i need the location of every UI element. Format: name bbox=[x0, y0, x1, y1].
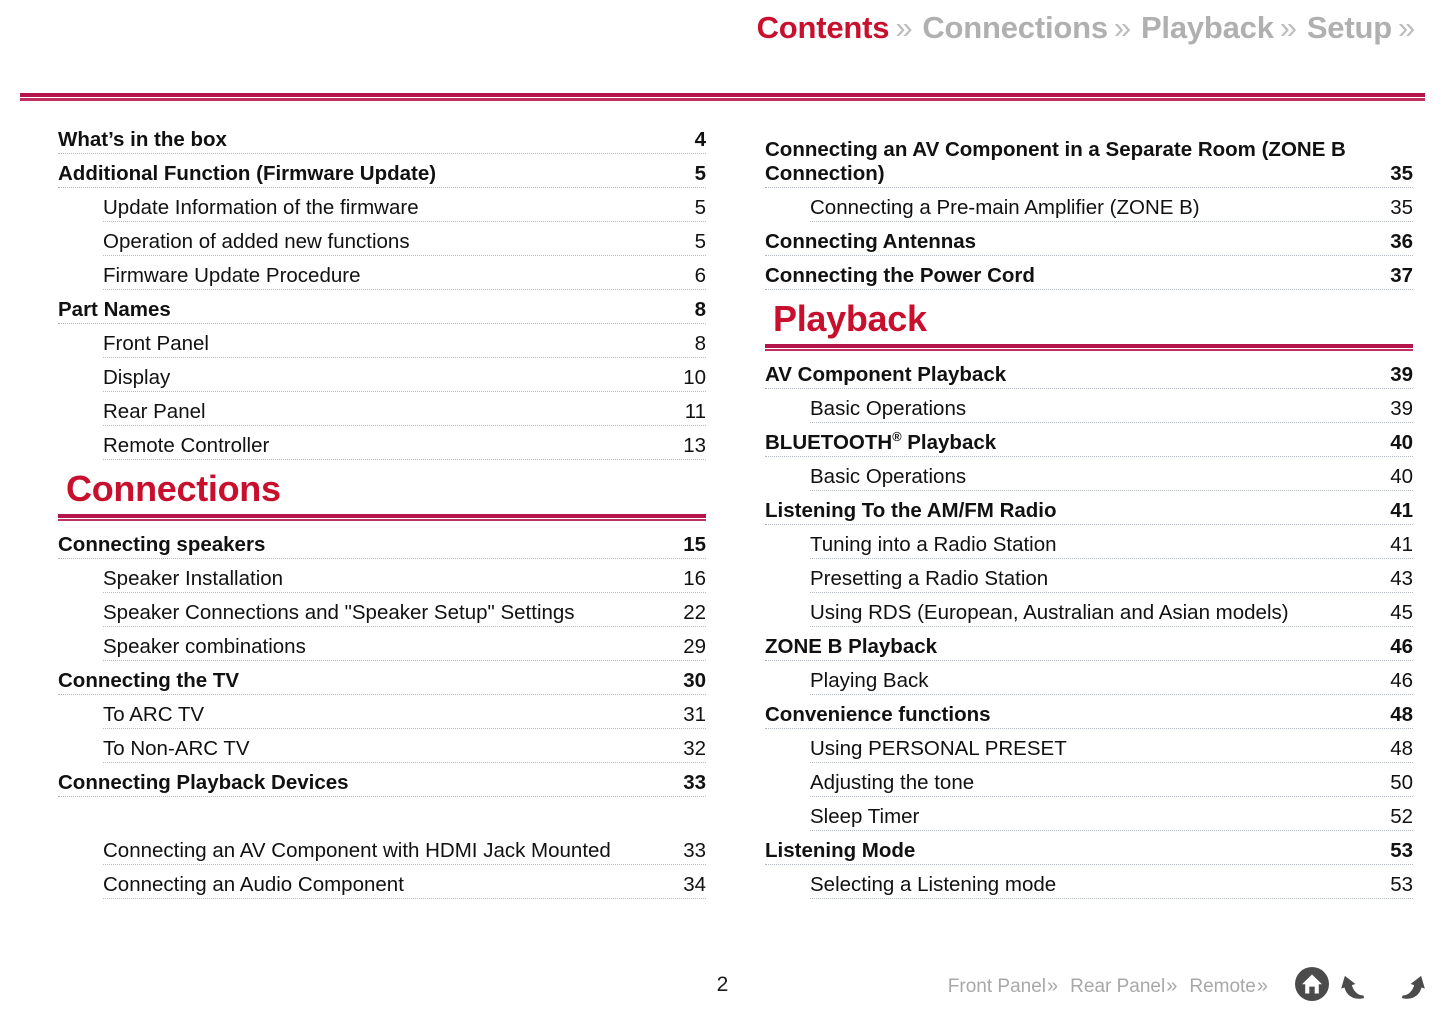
toc-entry-title: Connecting the TV bbox=[58, 669, 239, 693]
toc-entry[interactable]: What’s in the box4 bbox=[58, 120, 706, 154]
chevron-right-icon: » bbox=[1280, 10, 1297, 46]
toc-page-number: 40 bbox=[1390, 431, 1413, 455]
toc-entry[interactable]: Connecting an AV Component in a Separate… bbox=[765, 120, 1413, 188]
toc-entry-title: Front Panel bbox=[103, 332, 209, 356]
toc-page-number: 5 bbox=[695, 162, 706, 186]
toc-entry[interactable]: Listening To the AM/FM Radio41 bbox=[765, 491, 1413, 525]
toc-entry[interactable]: Connecting the Power Cord37 bbox=[765, 256, 1413, 290]
toc-entry[interactable]: BLUETOOTH® Playback40 bbox=[765, 423, 1413, 457]
toc-entry[interactable]: Connecting the TV30 bbox=[58, 661, 706, 695]
rule-thin-line bbox=[765, 349, 1413, 351]
toc-entry[interactable]: Sleep Timer52 bbox=[810, 797, 1413, 831]
toc-entry-title: Part Names bbox=[58, 298, 171, 322]
toc-entry[interactable]: Connecting an Audio Component34 bbox=[103, 865, 706, 899]
header-divider-rule bbox=[20, 93, 1425, 101]
rule-thin-line bbox=[58, 519, 706, 521]
toc-page-number: 41 bbox=[1390, 499, 1413, 523]
footer-link-front-panel[interactable]: Front Panel bbox=[948, 976, 1046, 998]
toc-page-number: 30 bbox=[683, 669, 706, 693]
nav-item-contents[interactable]: Contents bbox=[757, 10, 890, 46]
section-rule bbox=[765, 344, 1413, 351]
toc-entry-title: To Non-ARC TV bbox=[103, 737, 250, 761]
toc-entry-title: What’s in the box bbox=[58, 128, 227, 152]
toc-page-number: 36 bbox=[1390, 230, 1413, 254]
toc-page-number: 4 bbox=[695, 128, 706, 152]
toc-entry[interactable]: Remote Controller13 bbox=[103, 426, 706, 460]
toc-entry-title: Using PERSONAL PRESET bbox=[810, 737, 1067, 761]
toc-page-number: 29 bbox=[683, 635, 706, 659]
toc-page-number: 34 bbox=[683, 873, 706, 897]
chevron-right-icon: » bbox=[1114, 10, 1131, 46]
toc-page-number: 40 bbox=[1390, 465, 1413, 489]
toc-page-number: 46 bbox=[1390, 635, 1413, 659]
toc-page-number: 45 bbox=[1390, 601, 1413, 625]
toc-page-number: 33 bbox=[683, 839, 706, 863]
toc-entry[interactable]: Connecting Playback Devices33 bbox=[58, 763, 706, 797]
toc-entry[interactable]: Firmware Update Procedure6 bbox=[103, 256, 706, 290]
toc-page-number: 35 bbox=[1390, 196, 1413, 220]
toc-entry-title-base: BLUETOOTH bbox=[765, 431, 892, 454]
toc-page-number: 13 bbox=[683, 434, 706, 458]
registered-trademark-icon: ® bbox=[892, 429, 901, 444]
toc-entry[interactable]: AV Component Playback39 bbox=[765, 355, 1413, 389]
toc-entry[interactable]: Playing Back46 bbox=[810, 661, 1413, 695]
toc-entry-title: Basic Operations bbox=[810, 465, 966, 489]
toc-entry-title: Listening To the AM/FM Radio bbox=[765, 499, 1057, 523]
back-arrow-icon[interactable] bbox=[1339, 965, 1379, 1008]
toc-page-number: 52 bbox=[1390, 805, 1413, 829]
toc-entry-title: Rear Panel bbox=[103, 400, 206, 424]
toc-page-number: 31 bbox=[683, 703, 706, 727]
toc-entry-title: Update Information of the firmware bbox=[103, 196, 419, 220]
toc-page-number: 11 bbox=[685, 400, 706, 424]
forward-arrow-icon[interactable] bbox=[1387, 965, 1427, 1008]
toc-entry-title: Speaker Connections and "Speaker Setup" … bbox=[103, 601, 575, 625]
toc-page-number: 16 bbox=[683, 567, 706, 591]
toc-page-number: 50 bbox=[1390, 771, 1413, 795]
toc-entry-title: To ARC TV bbox=[103, 703, 204, 727]
toc-entry-title-suffix: Playback bbox=[902, 431, 997, 454]
toc-entry[interactable]: Tuning into a Radio Station41 bbox=[810, 525, 1413, 559]
toc-page-number: 53 bbox=[1390, 839, 1413, 863]
toc-entry[interactable]: Additional Function (Firmware Update)5 bbox=[58, 154, 706, 188]
nav-item-connections[interactable]: Connections bbox=[922, 10, 1108, 46]
toc-entry[interactable]: Speaker combinations29 bbox=[103, 627, 706, 661]
nav-item-setup[interactable]: Setup bbox=[1307, 10, 1392, 46]
toc-entry-title: Playing Back bbox=[810, 669, 929, 693]
top-navigation: Contents»Connections»Playback»Setup» bbox=[757, 10, 1425, 46]
toc-entry[interactable]: Update Information of the firmware5 bbox=[103, 188, 706, 222]
section-rule bbox=[58, 514, 706, 521]
toc-entry-title: Connecting an AV Component in a Separate… bbox=[765, 138, 1378, 186]
toc-page-number: 48 bbox=[1390, 737, 1413, 761]
toc-entry-title: Presetting a Radio Station bbox=[810, 567, 1048, 591]
toc-entry[interactable]: Display10 bbox=[103, 358, 706, 392]
toc-entry-title: Adjusting the tone bbox=[810, 771, 974, 795]
toc-entry-title: Sleep Timer bbox=[810, 805, 919, 829]
chevron-right-icon: » bbox=[895, 10, 912, 46]
toc-entry-title: BLUETOOTH® Playback bbox=[765, 431, 996, 455]
toc-entry[interactable]: Connecting Antennas36 bbox=[765, 222, 1413, 256]
toc-page-number: 33 bbox=[683, 771, 706, 795]
toc-entry[interactable]: Part Names8 bbox=[58, 290, 706, 324]
toc-entry-title: Selecting a Listening mode bbox=[810, 873, 1056, 897]
toc-page-number: 43 bbox=[1390, 567, 1413, 591]
toc-page-number: 37 bbox=[1390, 264, 1413, 288]
footer-navigation: Front Panel»Rear Panel»Remote» bbox=[948, 975, 1280, 998]
chevron-right-icon: » bbox=[1257, 975, 1268, 998]
toc-entry[interactable]: Operation of added new functions5 bbox=[103, 222, 706, 256]
toc-entry[interactable]: Speaker Connections and "Speaker Setup" … bbox=[103, 593, 706, 627]
footer-link-remote[interactable]: Remote bbox=[1189, 976, 1256, 998]
toc-entry-title: Additional Function (Firmware Update) bbox=[58, 162, 436, 186]
toc-page-number: 5 bbox=[695, 196, 706, 220]
toc-page-number: 10 bbox=[683, 366, 706, 390]
toc-entry-title: Firmware Update Procedure bbox=[103, 264, 361, 288]
toc-entry[interactable]: Basic Operations40 bbox=[810, 457, 1413, 491]
section-banner-playback: Playback bbox=[765, 298, 1413, 351]
toc-page-number: 39 bbox=[1390, 363, 1413, 387]
toc-entry-title: Connecting an Audio Component bbox=[103, 873, 404, 897]
toc-page-number: 39 bbox=[1390, 397, 1413, 421]
toc-page-number: 53 bbox=[1390, 873, 1413, 897]
toc-entry-title: Display bbox=[103, 366, 170, 390]
toc-entry-title: Listening Mode bbox=[765, 839, 915, 863]
toc-entry[interactable]: Connecting speakers15 bbox=[58, 525, 706, 559]
section-banner-connections: Connections bbox=[58, 468, 706, 521]
toc-page-number: 5 bbox=[695, 230, 706, 254]
toc-column-left: What’s in the box4Additional Function (F… bbox=[58, 120, 738, 899]
toc-entry[interactable]: Adjusting the tone50 bbox=[810, 763, 1413, 797]
toc-page-number: 46 bbox=[1390, 669, 1413, 693]
toc-page-number: 32 bbox=[683, 737, 706, 761]
toc-page-number: 15 bbox=[683, 533, 706, 557]
footer-icon-group bbox=[1293, 965, 1427, 1008]
chevron-right-icon: » bbox=[1398, 10, 1415, 46]
toc-entry-title: AV Component Playback bbox=[765, 363, 1006, 387]
toc-entry[interactable]: Speaker Installation16 bbox=[103, 559, 706, 593]
toc-entry-title: Remote Controller bbox=[103, 434, 269, 458]
chevron-right-icon: » bbox=[1166, 975, 1177, 998]
home-icon[interactable] bbox=[1293, 965, 1331, 1008]
toc-entry[interactable]: To ARC TV31 bbox=[103, 695, 706, 729]
toc-entry-title: Connecting an AV Component with HDMI Jac… bbox=[103, 839, 611, 863]
chevron-right-icon: » bbox=[1047, 975, 1058, 998]
toc-page-number: 22 bbox=[683, 601, 706, 625]
page-footer: 2 Front Panel»Rear Panel»Remote» bbox=[0, 963, 1445, 1009]
toc-page-number: 41 bbox=[1390, 533, 1413, 557]
toc-entry-title: Connecting Playback Devices bbox=[58, 771, 349, 795]
toc-entry[interactable]: To Non-ARC TV32 bbox=[103, 729, 706, 763]
toc-entry-title: Operation of added new functions bbox=[103, 230, 410, 254]
toc-entry-title: Connecting the Power Cord bbox=[765, 264, 1035, 288]
toc-column-right: Connecting an AV Component in a Separate… bbox=[765, 120, 1445, 899]
toc-entry[interactable]: Rear Panel11 bbox=[103, 392, 706, 426]
toc-entry[interactable]: Connecting a Pre-main Amplifier (ZONE B)… bbox=[810, 188, 1413, 222]
toc-entry-title: Speaker Installation bbox=[103, 567, 283, 591]
section-title: Connections bbox=[58, 468, 706, 510]
toc-entry[interactable]: Using PERSONAL PRESET48 bbox=[810, 729, 1413, 763]
toc-page-number: 8 bbox=[695, 332, 706, 356]
toc-page-number: 6 bbox=[695, 264, 706, 288]
rule-thin-line bbox=[20, 98, 1425, 101]
toc-entry[interactable]: Selecting a Listening mode53 bbox=[810, 865, 1413, 899]
toc-entry[interactable]: Presetting a Radio Station43 bbox=[810, 559, 1413, 593]
footer-link-rear-panel[interactable]: Rear Panel bbox=[1070, 976, 1165, 998]
nav-item-playback[interactable]: Playback bbox=[1141, 10, 1274, 46]
toc-entry[interactable]: Basic Operations39 bbox=[810, 389, 1413, 423]
toc-entry[interactable]: Listening Mode53 bbox=[765, 831, 1413, 865]
toc-entry[interactable]: Front Panel8 bbox=[103, 324, 706, 358]
toc-entry-title: Basic Operations bbox=[810, 397, 966, 421]
table-of-contents: What’s in the box4Additional Function (F… bbox=[0, 120, 1445, 899]
toc-entry-title: Using RDS (European, Australian and Asia… bbox=[810, 601, 1289, 625]
toc-page-number: 35 bbox=[1390, 162, 1413, 186]
toc-entry[interactable]: Using RDS (European, Australian and Asia… bbox=[810, 593, 1413, 627]
toc-entry-title: Tuning into a Radio Station bbox=[810, 533, 1057, 557]
toc-entry[interactable]: Connecting an AV Component with HDMI Jac… bbox=[103, 797, 706, 865]
toc-page-number: 48 bbox=[1390, 703, 1413, 727]
toc-entry-title: Speaker combinations bbox=[103, 635, 306, 659]
toc-entry[interactable]: ZONE B Playback46 bbox=[765, 627, 1413, 661]
toc-entry-title: Connecting speakers bbox=[58, 533, 265, 557]
toc-entry-title: ZONE B Playback bbox=[765, 635, 937, 659]
section-title: Playback bbox=[765, 298, 1413, 340]
toc-entry-title: Connecting a Pre-main Amplifier (ZONE B) bbox=[810, 196, 1200, 220]
toc-entry-title: Convenience functions bbox=[765, 703, 991, 727]
toc-entry[interactable]: Convenience functions48 bbox=[765, 695, 1413, 729]
toc-page-number: 8 bbox=[695, 298, 706, 322]
toc-entry-title: Connecting Antennas bbox=[765, 230, 976, 254]
